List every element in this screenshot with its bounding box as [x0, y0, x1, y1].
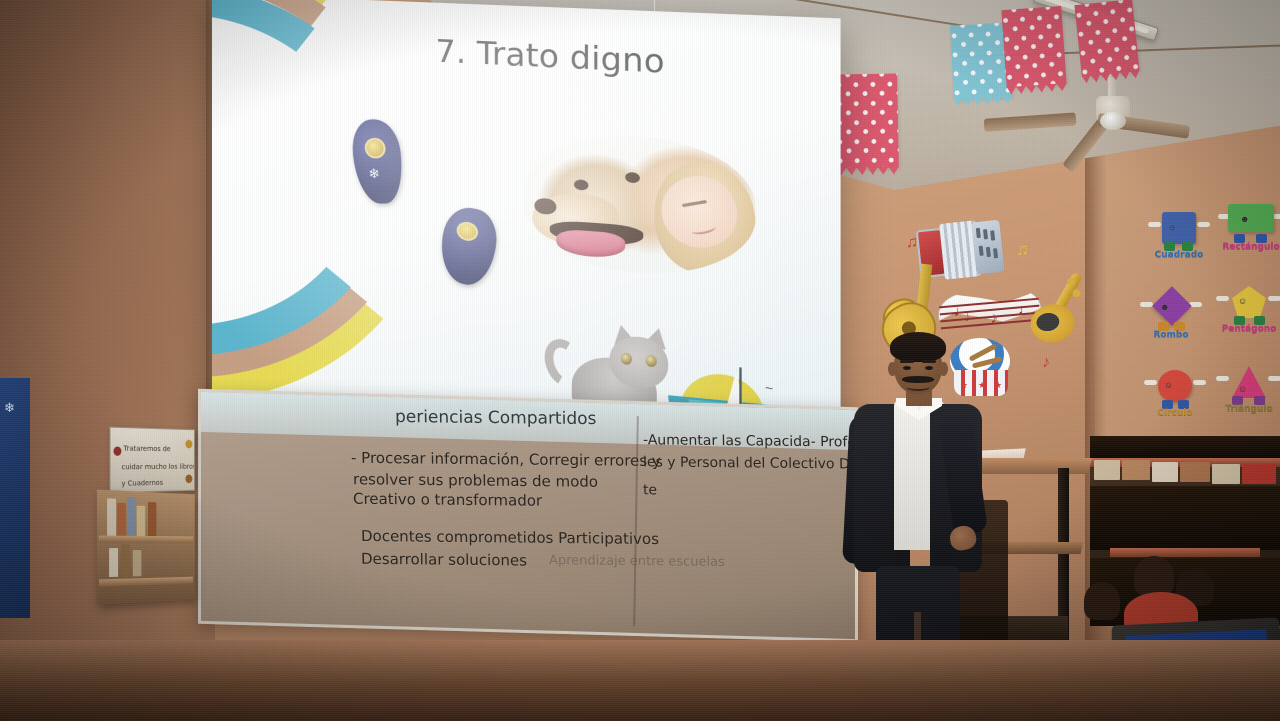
shape-label: Rectángulo [1218, 242, 1280, 252]
shape-poster-rombo: ☻ Rombo [1144, 288, 1198, 352]
classroom-scene: 7. Trato digno ❄ [0, 0, 1280, 721]
audience-head [1084, 582, 1120, 620]
audience-head [1134, 556, 1174, 596]
shape-label: Pentágono [1216, 324, 1280, 334]
shape-poster-rectangulo: ☻ Rectángulo [1224, 200, 1278, 264]
slide-title: 7. Trato digno [435, 34, 664, 81]
banner-flag [1074, 0, 1139, 77]
floor [0, 640, 1280, 721]
seagull-icon: ~ [765, 380, 773, 396]
banner-flag [1001, 6, 1066, 88]
blue-wall-board: ❄ [0, 378, 30, 618]
music-note-icon: ♫ [1016, 240, 1029, 260]
poster-line: Trataremos de [123, 445, 170, 454]
shape-poster-triangulo: ☺ Triángulo [1222, 362, 1276, 426]
whiteboard-line: te [643, 482, 657, 498]
shape-label: Rombo [1138, 330, 1204, 340]
poster-line: cuidar mucho los libros [121, 463, 194, 471]
blue-mitten-lower-icon [437, 203, 501, 290]
whiteboard-projected-header: periencias Compartidos [395, 407, 597, 429]
whiteboard-faint-line: Aprendizaje entre escuelas [549, 553, 725, 570]
shape-poster-pentagono: ☺ Pentágono [1222, 282, 1276, 346]
left-wall [0, 0, 215, 721]
book-shelf-left [97, 489, 195, 604]
shape-poster-cuadrado: ☼ Cuadrado [1152, 208, 1206, 272]
whiteboard: periencias Compartidos - Procesar inform… [198, 389, 858, 642]
whiteboard-line: resolver sus problemas de modo [353, 470, 598, 491]
classroom-rules-poster: Trataremos de cuidar mucho los libros y … [109, 427, 194, 494]
shape-label: Cuadrado [1146, 250, 1212, 260]
whiteboard-line: Creativo o transformador [353, 490, 542, 510]
banner-flag [835, 73, 899, 168]
dog-and-girl-photo [524, 130, 756, 282]
shape-label: Triángulo [1216, 404, 1280, 414]
poster-line: y Cuadernos [121, 479, 163, 488]
whiteboard-column-divider [633, 416, 639, 626]
whiteboard-line: - Procesar información, Corregir errores… [351, 449, 661, 470]
whiteboard-line: les y Personal del Colectivo Docen- [643, 454, 858, 473]
whiteboard-line: Docentes comprometidos Participativos [361, 527, 659, 548]
whiteboard-line: Desarrollar soluciones [361, 550, 527, 570]
whiteboard-line: -Aumentar las Capacida- Profesio- [643, 432, 858, 450]
music-note-icon: ♫ [906, 234, 918, 252]
shape-poster-circulo: ☺ Círculo [1148, 366, 1202, 430]
snowflake-icon: ❄ [4, 400, 15, 416]
music-note-icon: ♪ [1042, 354, 1050, 372]
shape-label: Círculo [1142, 408, 1208, 418]
